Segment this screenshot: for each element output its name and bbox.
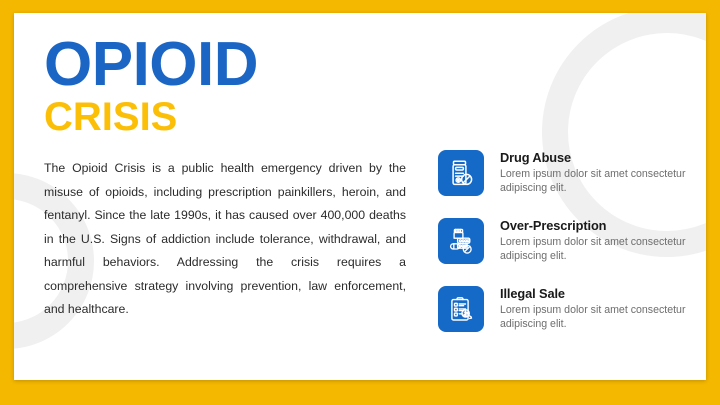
feature-title: Illegal Sale — [500, 286, 690, 302]
pills-blister-pack-icon — [438, 218, 484, 264]
feature-list: Drug Abuse Lorem ipsum dolor sit amet co… — [438, 148, 690, 332]
feature-text: Illegal Sale Lorem ipsum dolor sit amet … — [500, 284, 690, 331]
page-title-primary: OPIOID — [44, 33, 406, 97]
feature-item[interactable]: Over-Prescription Lorem ipsum dolor sit … — [438, 216, 690, 264]
slide-frame: OPIOID CRISIS The Opioid Crisis is a pub… — [0, 0, 720, 405]
clipboard-checklist-hand-icon — [438, 286, 484, 332]
feature-title: Over-Prescription — [500, 218, 690, 234]
feature-description: Lorem ipsum dolor sit amet consectetur a… — [500, 304, 690, 331]
feature-text: Over-Prescription Lorem ipsum dolor sit … — [500, 216, 690, 263]
slide-card: OPIOID CRISIS The Opioid Crisis is a pub… — [14, 13, 706, 380]
feature-item[interactable]: Illegal Sale Lorem ipsum dolor sit amet … — [438, 284, 690, 332]
pill-bottle-prohibited-icon — [438, 150, 484, 196]
feature-description: Lorem ipsum dolor sit amet consectetur a… — [500, 168, 690, 195]
page-title-secondary: CRISIS — [44, 95, 406, 139]
text-column: OPIOID CRISIS The Opioid Crisis is a pub… — [44, 33, 406, 322]
feature-title: Drug Abuse — [500, 150, 690, 166]
feature-text: Drug Abuse Lorem ipsum dolor sit amet co… — [500, 148, 690, 195]
feature-description: Lorem ipsum dolor sit amet consectetur a… — [500, 236, 690, 263]
feature-item[interactable]: Drug Abuse Lorem ipsum dolor sit amet co… — [438, 148, 690, 196]
body-paragraph: The Opioid Crisis is a public health eme… — [44, 157, 406, 322]
